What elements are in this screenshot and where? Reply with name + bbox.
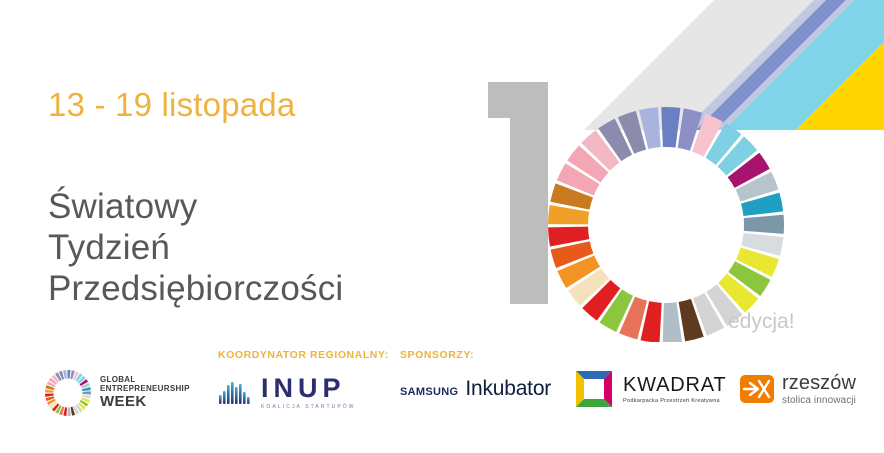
inup-bars-icon [218,380,252,406]
kwadrat-wordmark: KWADRAT Podkarpacka Przestrzeń Kreatywna [623,375,726,404]
ring-segment [45,389,54,392]
color-ring [548,107,784,342]
inup-wordmark: INUP [261,375,356,402]
inup-logo: INUP KOALICJA STARTUPÓW [218,375,389,410]
inkubator-wordmark: Inkubator [465,377,551,401]
samsung-inkubator-logo: SAMSUNG Inkubator [400,377,551,401]
edition-graphic: edycja! [470,52,800,342]
sponsors-label: SPONSORZY: [400,349,551,361]
rzeszow-logo: rzeszów stolica innowacji [740,343,856,435]
kwadrat-title: KWADRAT [623,375,726,395]
rzeszow-wordmark: rzeszów stolica innowacji [782,373,856,406]
kwadrat-logo: KWADRAT Podkarpacka Przestrzeń Kreatywna [574,343,726,435]
gew-logo: GLOBAL ENTREPRENEURSHIP WEEK [44,347,190,439]
edition-suffix: edycja! [728,310,795,334]
footer-logos: GLOBAL ENTREPRENEURSHIP WEEK KOORDYNATOR… [0,361,884,453]
yellow-stripe [796,0,884,130]
sponsors-section: SPONSORZY: SAMSUNG Inkubator [400,349,551,441]
gew-line-2: ENTREPRENEURSHIP [100,385,190,393]
gew-ring-icon [44,369,92,417]
coordinator-section: KOORDYNATOR REGIONALNY: INUP KOAL [218,349,389,441]
gew-line-3: WEEK [100,394,190,410]
ring-segment [67,370,70,379]
headline-line-3: Przedsiębiorczości [48,268,343,309]
ring-segment [45,393,54,396]
kwadrat-subtitle: Podkarpacka Przestrzeń Kreatywna [623,398,726,404]
samsung-wordmark: SAMSUNG [400,386,458,398]
headline-line-2: Tydzień [48,227,343,268]
coordinator-label: KOORDYNATOR REGIONALNY: [218,349,389,361]
rzeszow-title: rzeszów [782,373,856,393]
numeral-one-flag [488,82,512,118]
kwadrat-square-icon [574,369,614,409]
rzeszow-arrow-icon [740,372,774,406]
ten-numeral-with-color-ring [470,52,800,342]
event-date: 13 - 19 listopada [48,86,295,124]
page-title: Światowy Tydzień Przedsiębiorczości [48,186,343,309]
ring-segment [661,107,680,148]
ring-segment [68,407,71,416]
inup-tagline: KOALICJA STARTUPÓW [261,404,356,410]
gew-wordmark: GLOBAL ENTREPRENEURSHIP WEEK [100,376,190,410]
headline-line-1: Światowy [48,186,343,227]
ring-segment [663,302,682,342]
numeral-one-stem [510,82,548,304]
ring-segment [744,215,784,234]
rzeszow-subtitle: stolica innowacji [782,395,856,406]
ring-segment [82,391,91,394]
